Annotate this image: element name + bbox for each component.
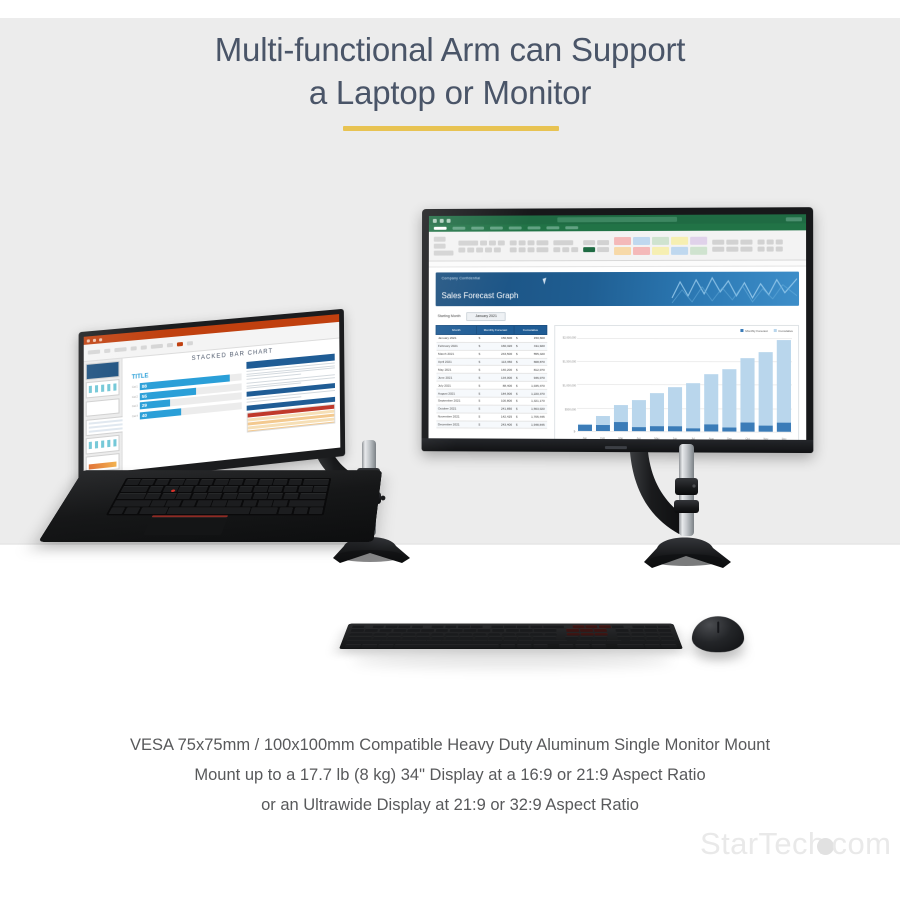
- forecast-table: Month Monthly Forecast Cumulative Januar…: [435, 325, 547, 429]
- caption-line-2: Mount up to a 17.7 lb (8 kg) 34" Display…: [0, 760, 900, 790]
- slide-title: STACKED BAR CHART: [128, 343, 335, 368]
- slide-bar-row: Cat 4 40: [128, 402, 242, 421]
- slide-canvas[interactable]: STACKED BAR CHART TITLE Cat 1 88: [123, 338, 341, 471]
- bar-value: 29: [142, 403, 147, 409]
- tab-view[interactable]: [565, 226, 578, 229]
- slide-chart: TITLE Cat 1 88 Cat 2: [128, 362, 242, 445]
- table-row: January 2021$150,600$150,600: [436, 334, 547, 342]
- trackpad[interactable]: [143, 517, 227, 535]
- laptop-base: [38, 470, 382, 542]
- keyboard-row: [109, 508, 324, 514]
- y-tick-label: $1,500,000: [555, 360, 576, 363]
- ribbon-group-cells[interactable]: [712, 239, 752, 251]
- table-row: April 2021$113,450$668,870: [436, 358, 547, 366]
- powerpoint-body: STACKED BAR CHART TITLE Cat 1 88: [84, 338, 341, 475]
- ribbon-new-slide-button[interactable]: [104, 349, 110, 354]
- tab-data[interactable]: [528, 226, 541, 229]
- keyboard-row: [348, 636, 675, 639]
- keyboard-row: [351, 629, 672, 632]
- y-tick-label: $2,000,000: [555, 336, 576, 339]
- ribbon-paste-button[interactable]: [88, 349, 100, 354]
- legend-item-cumulative: Cumulative: [774, 329, 793, 333]
- window-controls[interactable]: [786, 217, 802, 221]
- ribbon-editing-button[interactable]: [187, 341, 193, 346]
- bar-mar: [614, 338, 628, 431]
- undo-icon[interactable]: [93, 338, 96, 341]
- table-row: March 2021$243,500$555,420: [436, 350, 547, 358]
- starting-month-control: Starting Month January 2021: [438, 312, 799, 321]
- slide-thumbnail[interactable]: [86, 435, 120, 455]
- table-row: June 2021$134,000$946,070: [436, 374, 547, 382]
- text-paragraph: [246, 362, 334, 379]
- caption-line-3: or an Ultrawide Display at 21:9 or 32:9 …: [0, 790, 900, 820]
- table-row: February 2021$160,320$311,920: [436, 342, 547, 350]
- monitor-bezel: Company Confidential Sales Forecast Grap…: [422, 207, 814, 453]
- bar-oct: [741, 338, 755, 432]
- table-row: December 2021$243,400$1,948,845: [436, 420, 547, 428]
- bar-track: 55: [140, 383, 242, 400]
- headline-line-1: Multi-functional Arm can Support: [215, 31, 686, 68]
- table-body: January 2021$150,600$150,600 February 20…: [436, 334, 547, 428]
- headline: Multi-functional Arm can Support a Lapto…: [0, 28, 900, 114]
- bar-nov: [759, 338, 773, 432]
- laptop: STACKED BAR CHART TITLE Cat 1 88: [62, 320, 382, 590]
- redo-icon[interactable]: [99, 338, 102, 341]
- tab-insert[interactable]: [471, 227, 484, 230]
- save-icon[interactable]: [433, 218, 437, 222]
- bar-category-label: Cat 3: [128, 405, 138, 409]
- slide-thumbnail[interactable]: [86, 361, 120, 380]
- caption: VESA 75x75mm / 100x100mm Compatible Heav…: [0, 730, 900, 820]
- bar-feb: [596, 338, 610, 431]
- accent-underline: [343, 126, 559, 131]
- tab-formulas[interactable]: [509, 226, 522, 229]
- text-paragraph: [247, 390, 336, 403]
- bar-apr: [632, 338, 646, 431]
- powerpoint-ribbon: [84, 322, 340, 362]
- monitor-chin: [422, 438, 814, 453]
- text-subheading-bar: [246, 383, 334, 397]
- keyboard-row: [345, 644, 677, 647]
- keyboard-row: [113, 500, 325, 506]
- slide-thumbnail[interactable]: [86, 408, 200, 436]
- slide-mini-table: [247, 404, 336, 433]
- bar-jun: [668, 338, 682, 431]
- bar-value: 55: [142, 393, 147, 399]
- bar-category-label: Cat 4: [128, 414, 138, 418]
- col-monthly-forecast: Monthly Forecast: [477, 325, 514, 334]
- watermark-text-secondary: com: [832, 826, 892, 861]
- keyboard-shadow: [352, 652, 672, 668]
- col-month: Month: [436, 325, 477, 334]
- chart-legend: Monthly Forecast Cumulative: [741, 329, 793, 333]
- forecast-chart: Monthly Forecast Cumulative $2,000,000 $…: [554, 325, 799, 440]
- report-banner: Company Confidential Sales Forecast Grap…: [436, 272, 799, 307]
- tab-page-layout[interactable]: [490, 227, 503, 230]
- monitor-screen: Company Confidential Sales Forecast Grap…: [428, 214, 806, 440]
- col-cumulative: Cumulative: [514, 325, 547, 334]
- bar-track: 88: [140, 373, 242, 390]
- ribbon-group-styles[interactable]: [614, 236, 707, 254]
- ribbon-group-conditional[interactable]: [583, 240, 609, 252]
- chart-plot-area: [577, 338, 792, 432]
- undo-icon[interactable]: [440, 218, 444, 222]
- bar-may: [650, 338, 664, 431]
- bar-sep: [723, 338, 737, 432]
- confidential-label: Company Confidential: [442, 276, 481, 280]
- keyboard-row: [120, 486, 327, 492]
- ribbon-group-alignment[interactable]: [510, 240, 549, 252]
- text-paragraph: [246, 374, 334, 389]
- laptop-lid: STACKED BAR CHART TITLE Cat 1 88: [78, 309, 345, 485]
- bar-jul: [686, 338, 700, 431]
- ribbon-group-clipboard[interactable]: [434, 237, 454, 256]
- bar-jan: [578, 338, 592, 431]
- slide-columns: TITLE Cat 1 88 Cat 2: [128, 354, 336, 445]
- chart-bars: [577, 338, 792, 432]
- slide-thumbnail[interactable]: [86, 398, 120, 417]
- starting-month-label: Starting Month: [438, 314, 461, 318]
- table-header-row: Month Monthly Forecast Cumulative: [436, 325, 547, 334]
- bar-value: 88: [142, 383, 147, 389]
- keyboard-row: [124, 479, 329, 485]
- monitor: Company Confidential Sales Forecast Grap…: [420, 208, 812, 452]
- slide-thumbnail[interactable]: [86, 379, 120, 398]
- watermark-text-primary: StarTech: [700, 826, 826, 861]
- slide-text-panel: [246, 354, 335, 433]
- ribbon-shapes-button[interactable]: [167, 343, 173, 348]
- slide-bar-row: Cat 2 55: [128, 383, 242, 401]
- legend-item-monthly-forecast: Monthly Forecast: [741, 329, 768, 333]
- excel-ribbon: [429, 230, 806, 261]
- text-subheading-bar: [247, 397, 336, 411]
- worksheet-body: Month Monthly Forecast Cumulative Januar…: [435, 325, 799, 440]
- chart-title: TITLE: [132, 364, 242, 380]
- ribbon-arrange-button[interactable]: [177, 342, 183, 347]
- bar-category-label: Cat 2: [128, 395, 138, 399]
- save-icon[interactable]: [87, 339, 90, 342]
- product-marketing-image: Multi-functional Arm can Support a Lapto…: [0, 0, 900, 900]
- ribbon-group-font[interactable]: [458, 240, 504, 252]
- bar-track: 29: [140, 392, 242, 409]
- bar-dec: [777, 338, 791, 432]
- bar-value: 40: [142, 412, 147, 418]
- monitor-brand-logo: [605, 446, 627, 449]
- banner-title: Sales Forecast Graph: [442, 291, 519, 300]
- tab-home[interactable]: [453, 227, 466, 230]
- text-heading-bar: [246, 354, 334, 369]
- caption-line-1: VESA 75x75mm / 100x100mm Compatible Heav…: [0, 730, 900, 760]
- slide-bar-row: Cat 3 29: [128, 392, 242, 410]
- bar-aug: [704, 338, 718, 431]
- bar-category-label: Cat 1: [128, 385, 138, 389]
- redo-icon[interactable]: [447, 218, 451, 222]
- starting-month-value[interactable]: January 2021: [467, 312, 506, 321]
- ribbon-italic-button[interactable]: [141, 345, 147, 350]
- y-tick-label: $-: [555, 430, 576, 433]
- ribbon-paragraph-control[interactable]: [151, 344, 163, 349]
- keyboard-row: [349, 633, 673, 636]
- excel-worksheet: Company Confidential Sales Forecast Grap…: [428, 267, 806, 440]
- tab-file[interactable]: [434, 227, 447, 230]
- slide-bar-row: Cat 1 88: [128, 373, 242, 391]
- startech-watermark: StarTechcom: [700, 826, 891, 862]
- laptop-screen: STACKED BAR CHART TITLE Cat 1 88: [84, 314, 341, 475]
- ribbon-group-number[interactable]: [553, 240, 578, 252]
- keyboard-row: [346, 640, 675, 643]
- ribbon-bold-button[interactable]: [131, 346, 137, 351]
- laptop-keyboard[interactable]: [106, 478, 332, 515]
- mouse-cursor-icon: [543, 278, 549, 285]
- bar-track: 40: [140, 402, 242, 419]
- ribbon-group-editing[interactable]: [758, 239, 783, 251]
- headline-line-2: a Laptop or Monitor: [0, 71, 900, 114]
- search-box[interactable]: [557, 217, 677, 223]
- keyboard-row: [352, 625, 670, 628]
- desktop-keyboard[interactable]: [339, 624, 683, 649]
- y-tick-label: $1,000,000: [555, 384, 576, 387]
- tab-review[interactable]: [546, 226, 559, 229]
- y-tick-label: $500,000: [555, 408, 576, 411]
- ribbon-font-control[interactable]: [114, 347, 126, 352]
- slide-thumbnail-rail[interactable]: [84, 359, 123, 476]
- keyboard-row: [117, 493, 327, 499]
- banner-line-graphic: [670, 272, 799, 306]
- table-row: May 2021$140,200$812,070: [436, 366, 547, 374]
